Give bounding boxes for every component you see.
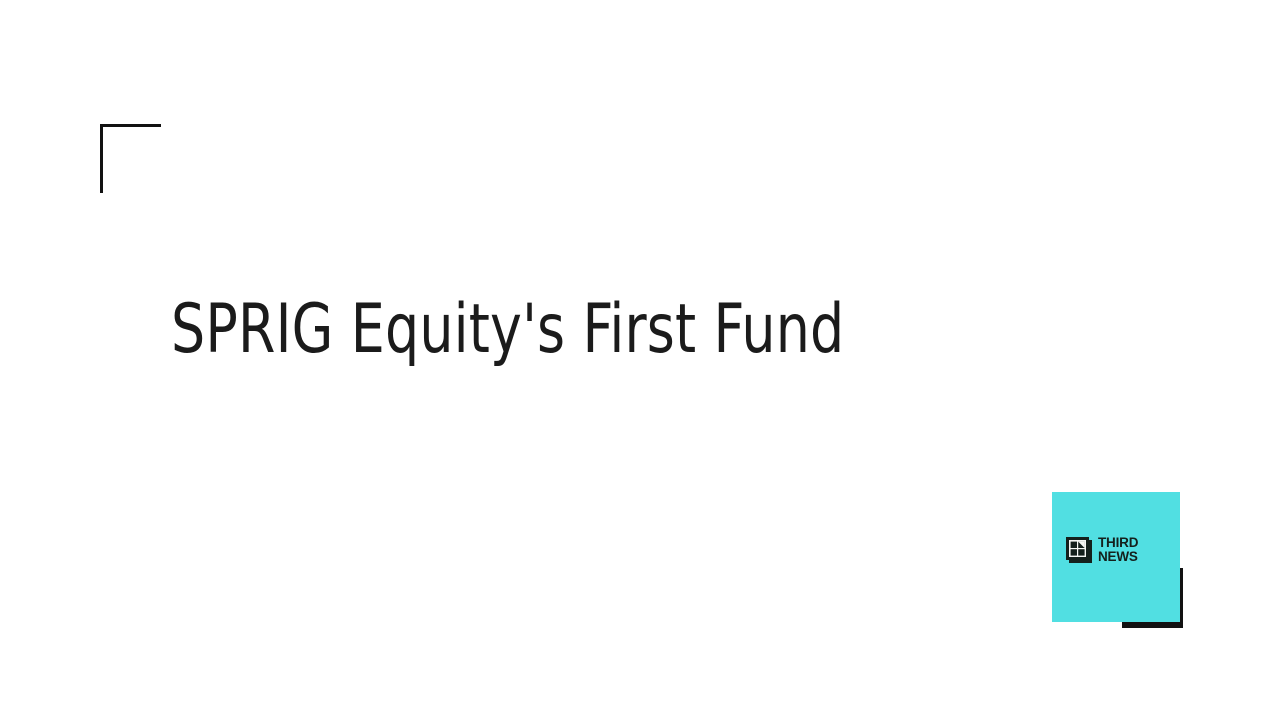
logo-badge: THIRD NEWS bbox=[1052, 492, 1180, 622]
presentation-slide: SPRIG Equity's First Fund bbox=[0, 0, 1280, 720]
logo-wordmark-line-1: THIRD bbox=[1098, 536, 1138, 550]
logo-badge-shadow-horizontal bbox=[1122, 622, 1183, 628]
bracket-horizontal-bar bbox=[100, 124, 161, 127]
title-block: SPRIG Equity's First Fund bbox=[171, 293, 1031, 366]
logo-lockup: THIRD NEWS bbox=[1066, 536, 1138, 564]
logo-wordmark: THIRD NEWS bbox=[1098, 536, 1138, 564]
logo-badge-shadow-vertical bbox=[1180, 568, 1183, 628]
bracket-vertical-bar bbox=[100, 124, 103, 193]
logo-wordmark-line-2: NEWS bbox=[1098, 550, 1138, 564]
newspaper-window-icon bbox=[1066, 537, 1092, 563]
page-title: SPRIG Equity's First Fund bbox=[171, 293, 928, 366]
top-left-corner-bracket-icon bbox=[100, 124, 161, 193]
